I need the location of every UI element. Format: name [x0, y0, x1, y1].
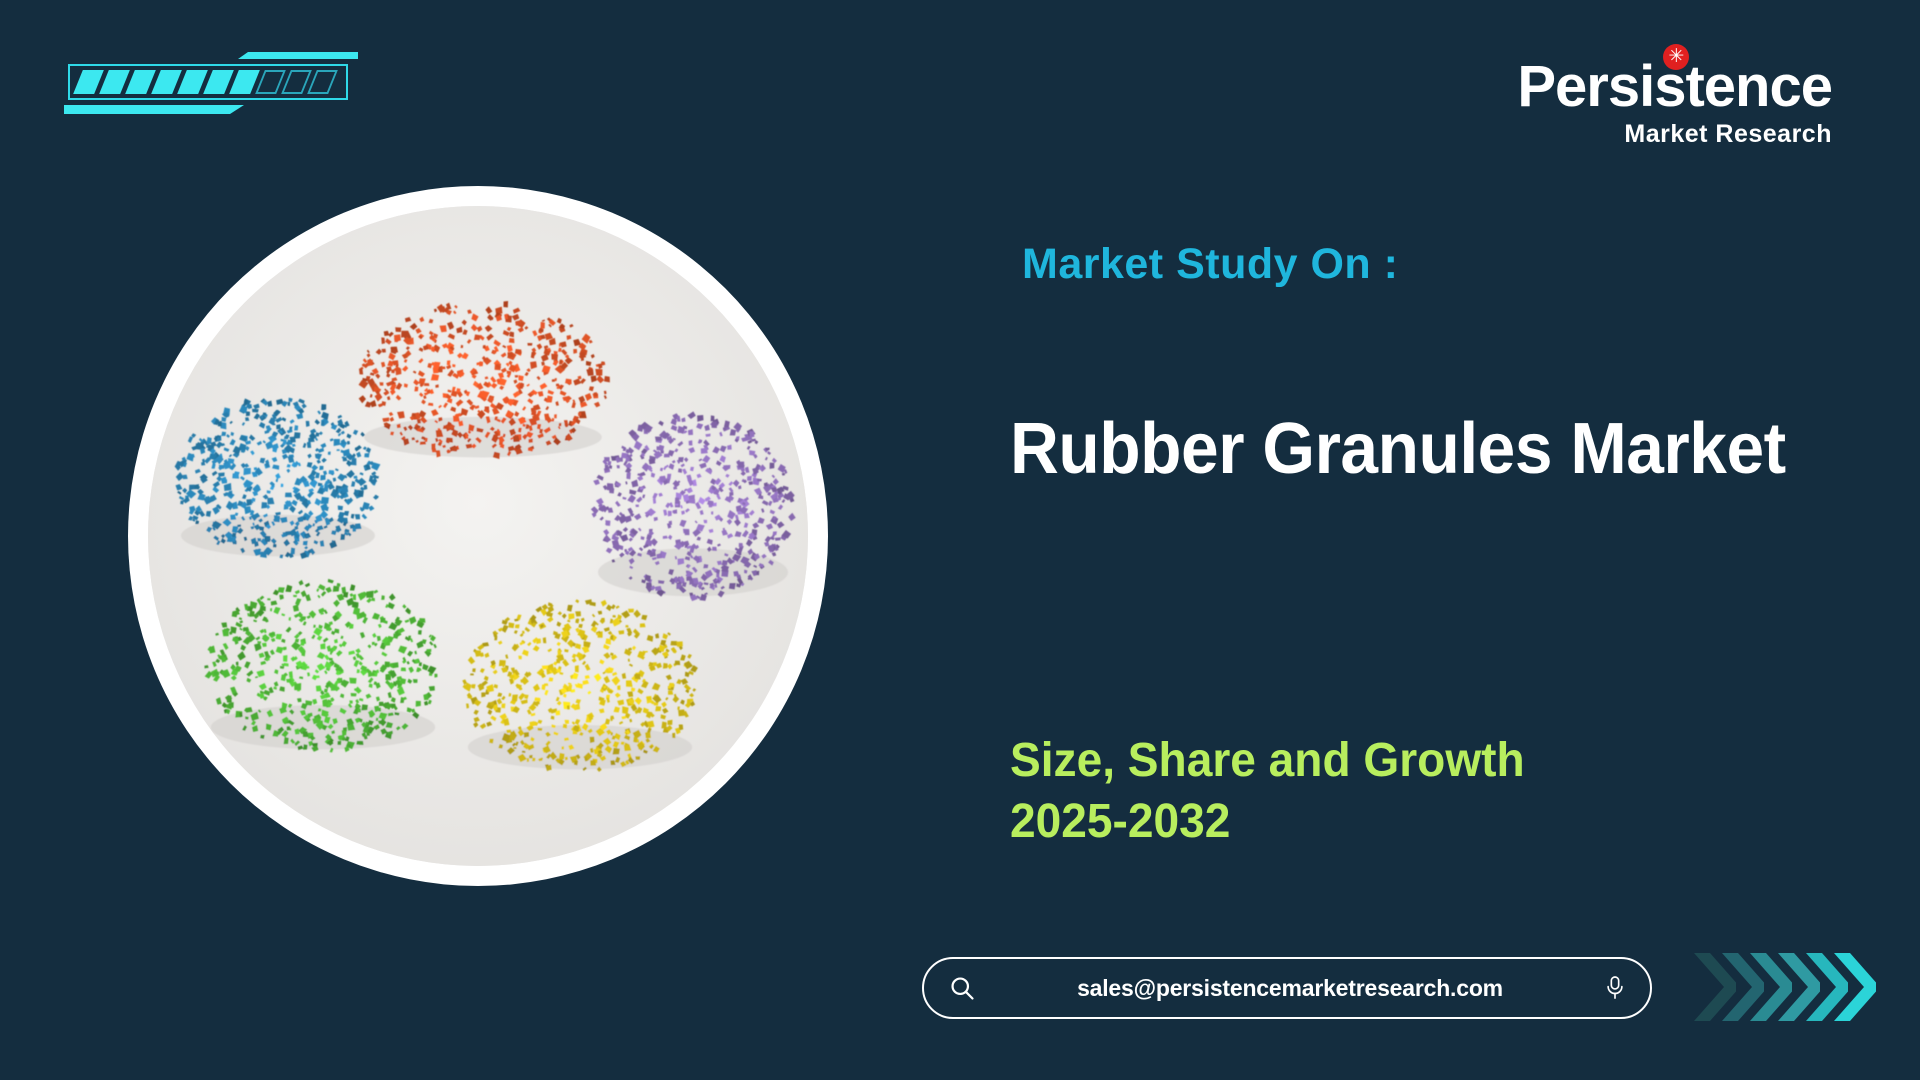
rubber-granules-photo	[148, 206, 808, 866]
hero-image-circle	[128, 186, 828, 886]
granules-illustration	[148, 206, 808, 866]
search-input[interactable]: sales@persistencemarketresearch.com	[976, 975, 1604, 1002]
subtitle-text: Size, Share and Growth 2025-2032	[1010, 730, 1525, 853]
chevron-arrows	[1690, 950, 1870, 1024]
chevron-icon	[1830, 950, 1876, 1024]
hud-loading-bar-graphic	[58, 52, 358, 114]
subtitle-line-2: 2025-2032	[1010, 791, 1525, 852]
hud-accent-top-right	[238, 52, 358, 59]
brand-logo: Persistence ✳ Market Research	[1517, 58, 1832, 149]
hud-segments	[78, 70, 340, 94]
microphone-icon[interactable]	[1604, 973, 1626, 1003]
eyebrow-text: Market Study On :	[1022, 240, 1398, 289]
page-title: Rubber Granules Market	[1010, 408, 1786, 490]
subtitle-line-1: Size, Share and Growth	[1010, 730, 1525, 791]
hud-accent-bottom-left	[64, 105, 244, 114]
asterisk-glyph: ✳	[1668, 47, 1684, 66]
search-bar[interactable]: sales@persistencemarketresearch.com	[922, 957, 1652, 1019]
hud-segment-empty	[307, 70, 338, 94]
brand-tagline: Market Research	[1517, 120, 1832, 149]
search-icon[interactable]	[948, 974, 976, 1002]
